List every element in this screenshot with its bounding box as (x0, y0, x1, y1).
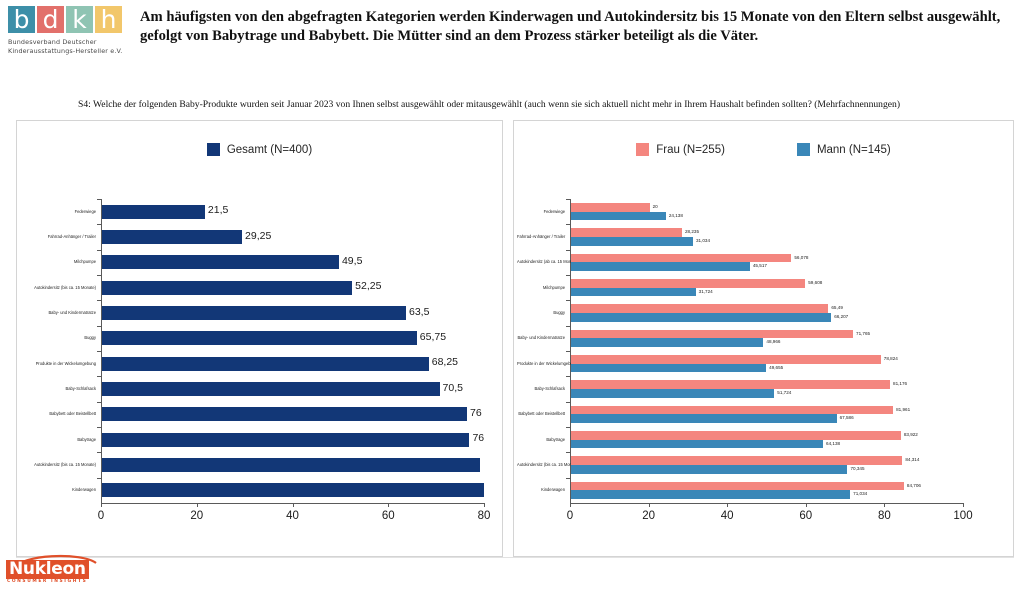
survey-question-text: S4: Welche der folgenden Baby-Produkte w… (78, 99, 1028, 111)
bdkh-logo-subtitle: Bundesverband Deutscher Kinderausstattun… (8, 38, 130, 55)
x-axis-tick-label: 60 (368, 510, 408, 522)
bdkh-subtitle-line1: Bundesverband Deutscher (8, 38, 130, 47)
bar-mann[interactable] (571, 313, 831, 322)
x-axis-tick-label: 80 (464, 510, 504, 522)
x-axis-tick (727, 503, 728, 507)
logo-letter-d: d (37, 6, 64, 33)
bar-value-label: 71,765 (856, 331, 870, 336)
bar-mann[interactable] (571, 440, 823, 449)
category-label: Federwiege (20, 209, 96, 214)
bar-value-label: 29,25 (245, 230, 271, 242)
logo-letter-h: h (95, 6, 122, 33)
y-axis-tick (566, 376, 570, 377)
bar-frau[interactable] (571, 304, 828, 313)
bar-gesamt[interactable] (102, 357, 429, 371)
bar-value-label: 51,724 (777, 390, 791, 395)
bar-value-label: 65,49 (831, 305, 843, 310)
y-axis-tick (97, 351, 101, 352)
bar-value-label: 70,345 (850, 466, 864, 471)
x-axis-tick-label: 40 (707, 510, 747, 522)
bar-frau[interactable] (571, 380, 890, 389)
bar-value-label: 56,078 (794, 255, 808, 260)
x-axis-tick-label: 0 (550, 510, 590, 522)
bar-value-label: 52,25 (355, 280, 381, 292)
legend-label: Gesamt (N=400) (227, 144, 312, 156)
bar-mann[interactable] (571, 414, 837, 423)
logo-letter-k: k (66, 6, 93, 33)
bar-mann[interactable] (571, 338, 763, 347)
bar-mann[interactable] (571, 364, 766, 373)
x-axis-tick (484, 503, 485, 507)
y-axis-tick (97, 478, 101, 479)
category-label: Buggy (517, 310, 565, 315)
footer-divider (16, 557, 1014, 558)
bar-value-label: 21,5 (208, 204, 228, 216)
bar-value-label: 76 (470, 407, 482, 419)
legend-item-mann[interactable]: Mann (N=145) (797, 143, 891, 156)
legend-item-gesamt[interactable]: Gesamt (N=400) (207, 143, 312, 156)
x-axis-tick-label: 40 (273, 510, 313, 522)
x-axis-tick-label: 20 (629, 510, 669, 522)
legend-swatch-icon (636, 143, 649, 156)
logo-square-h: h (95, 6, 122, 33)
bar-value-label: 28,235 (685, 229, 699, 234)
bar-gesamt[interactable] (102, 331, 417, 345)
bar-mann[interactable] (571, 389, 774, 398)
bar-mann[interactable] (571, 465, 847, 474)
legend-label: Mann (N=145) (817, 144, 891, 156)
category-label: Fahrrad-Anhänger / Trailer (517, 234, 565, 239)
bdkh-logo-letters: b d k h (8, 6, 130, 33)
bar-value-label: 78,824 (884, 356, 898, 361)
bar-frau[interactable] (571, 355, 881, 364)
y-axis-tick (566, 351, 570, 352)
bar-value-label: 31,724 (699, 289, 713, 294)
y-axis-tick (97, 224, 101, 225)
bar-value-label: 66,207 (834, 314, 848, 319)
category-label: Baby-Schlafsack (517, 386, 565, 391)
bar-chart-gesamt: 020406080Federwiege21,5Fahrrad-Anhänger … (17, 191, 504, 531)
y-axis-tick (566, 300, 570, 301)
y-axis-tick (97, 376, 101, 377)
bar-value-label: 76 (472, 432, 484, 444)
x-axis-tick (963, 503, 964, 507)
bar-gesamt[interactable] (102, 458, 480, 472)
bdkh-logo: b d k h Bundesverband Deutscher Kinderau… (8, 6, 130, 55)
x-axis-tick (884, 503, 885, 507)
bar-chart-geschlecht: 020406080100Federwiege2024,138Fahrrad-An… (514, 191, 1015, 531)
bar-value-label: 84,706 (907, 483, 921, 488)
bar-value-label: 68,25 (432, 356, 458, 368)
category-label: Babybett oder Beistellbett (20, 411, 96, 416)
logo-letter-b: b (8, 6, 35, 33)
bar-mann[interactable] (571, 212, 666, 221)
y-axis-tick (97, 427, 101, 428)
y-axis-tick (566, 199, 570, 200)
legend-swatch-icon (207, 143, 220, 156)
bar-mann[interactable] (571, 262, 750, 271)
bar-gesamt[interactable] (102, 306, 406, 320)
x-axis-tick (197, 503, 198, 507)
bar-mann[interactable] (571, 288, 696, 297)
bar-gesamt[interactable] (102, 255, 339, 269)
bar-value-label: 24,138 (669, 213, 683, 218)
category-label: Fahrrad-Anhänger / Trailer (20, 234, 96, 239)
category-label: Kinderwagen (517, 487, 565, 492)
nukleon-logo: Nukleon CONSUMER INSIGHTS (6, 552, 102, 584)
y-axis-tick (566, 427, 570, 428)
bar-value-label: 49,5 (342, 255, 362, 267)
bar-frau[interactable] (571, 406, 893, 415)
bar-gesamt[interactable] (102, 483, 484, 497)
bar-frau[interactable] (571, 482, 904, 491)
bar-value-label: 81,961 (896, 407, 910, 412)
bar-value-label: 63,5 (409, 306, 429, 318)
bar-gesamt[interactable] (102, 230, 242, 244)
bar-frau[interactable] (571, 254, 791, 263)
nukleon-tagline: CONSUMER INSIGHTS (7, 579, 87, 584)
bar-frau[interactable] (571, 431, 901, 440)
category-label: Produkte in der Wickelumgebung (517, 361, 565, 366)
bar-value-label: 64,138 (826, 441, 840, 446)
legend-swatch-icon (797, 143, 810, 156)
category-label: Autokindersitz (bis ca. 15 Monate) (517, 462, 565, 467)
x-axis-tick (388, 503, 389, 507)
bar-value-label: 70,5 (443, 382, 463, 394)
bar-gesamt[interactable] (102, 281, 352, 295)
x-axis-tick-label: 60 (786, 510, 826, 522)
bar-value-label: 31,034 (696, 238, 710, 243)
bar-value-label: 20 (653, 204, 658, 209)
bar-frau[interactable] (571, 203, 650, 212)
bar-value-label: 71,034 (853, 491, 867, 496)
category-label: Kinderwagen (20, 487, 96, 492)
y-axis-tick (97, 402, 101, 403)
x-axis-tick-label: 20 (177, 510, 217, 522)
bdkh-subtitle-line2: Kinderausstattungs-Hersteller e.V. (8, 47, 130, 56)
nukleon-wordmark: Nukleon (6, 560, 89, 579)
x-axis-tick-label: 0 (81, 510, 121, 522)
slide-headline: Am häufigsten von den abgefragten Katego… (140, 8, 1020, 46)
y-axis-tick (566, 478, 570, 479)
x-axis-tick (293, 503, 294, 507)
category-label: Produkte in der Wickelumgebung (20, 361, 96, 366)
bar-frau[interactable] (571, 279, 805, 288)
bar-value-label: 45,517 (753, 263, 767, 268)
x-axis-tick (101, 503, 102, 507)
bar-value-label: 59,608 (808, 280, 822, 285)
x-axis-tick (649, 503, 650, 507)
category-label: Babybett oder Beistellbett (517, 411, 565, 416)
bar-mann[interactable] (571, 490, 850, 499)
category-label: Babytrage (517, 437, 565, 442)
category-label: Autokindersitz (bis ca. 15 Monate) (20, 285, 96, 290)
bar-value-label: 83,922 (904, 432, 918, 437)
y-axis-tick (566, 250, 570, 251)
legend-gesamt: Gesamt (N=400) (17, 143, 502, 156)
bar-frau[interactable] (571, 330, 853, 339)
y-axis-tick (97, 275, 101, 276)
bar-value-label: 67,586 (840, 415, 854, 420)
bar-value-label: 49,655 (769, 365, 783, 370)
y-axis-tick (97, 300, 101, 301)
x-axis-tick (570, 503, 571, 507)
y-axis-tick (566, 224, 570, 225)
y-axis-tick (97, 199, 101, 200)
chart-panel-gesamt: Gesamt (N=400) 020406080Federwiege21,5Fa… (16, 120, 503, 557)
logo-square-b: b (8, 6, 35, 33)
x-axis-tick-label: 80 (864, 510, 904, 522)
y-axis-tick (97, 250, 101, 251)
bar-value-label: 65,75 (420, 331, 446, 343)
bar-mann[interactable] (571, 237, 693, 246)
y-axis-tick (566, 452, 570, 453)
category-label: Baby- und Kindermatratze (517, 335, 565, 340)
legend-label: Frau (N=255) (656, 144, 725, 156)
slide-root: b d k h Bundesverband Deutscher Kinderau… (0, 0, 1030, 590)
category-label: Baby-Schlafsack (20, 386, 96, 391)
chart-panel-geschlecht: Frau (N=255)Mann (N=145) 020406080100Fed… (513, 120, 1014, 557)
category-label: Autokindersitz (bis ca. 15 Monate) (20, 462, 96, 467)
bar-gesamt[interactable] (102, 205, 205, 219)
bar-value-label: 84,314 (905, 457, 919, 462)
y-axis-tick (566, 402, 570, 403)
logo-square-k: k (66, 6, 93, 33)
y-axis-tick (97, 452, 101, 453)
bar-frau[interactable] (571, 228, 682, 237)
category-label: Autokindersitz (ab ca. 15 Monate) (517, 259, 565, 264)
category-label: Babytrage (20, 437, 96, 442)
category-label: Federwiege (517, 209, 565, 214)
x-axis-tick (806, 503, 807, 507)
logo-square-d: d (37, 6, 64, 33)
bar-frau[interactable] (571, 456, 902, 465)
category-label: Milchpumpe (20, 259, 96, 264)
y-axis-tick (566, 326, 570, 327)
x-axis-tick-label: 100 (943, 510, 983, 522)
bar-value-label: 48,966 (766, 339, 780, 344)
bar-gesamt[interactable] (102, 433, 469, 447)
x-axis-line (570, 503, 964, 504)
bar-gesamt[interactable] (102, 382, 440, 396)
legend-item-frau[interactable]: Frau (N=255) (636, 143, 725, 156)
category-label: Milchpumpe (517, 285, 565, 290)
bar-value-label: 81,176 (893, 381, 907, 386)
bar-gesamt[interactable] (102, 407, 467, 421)
legend-geschlecht: Frau (N=255)Mann (N=145) (514, 143, 1013, 156)
category-label: Baby- und Kindermatratze (20, 310, 96, 315)
y-axis-tick (566, 275, 570, 276)
category-label: Buggy (20, 335, 96, 340)
y-axis-tick (97, 326, 101, 327)
